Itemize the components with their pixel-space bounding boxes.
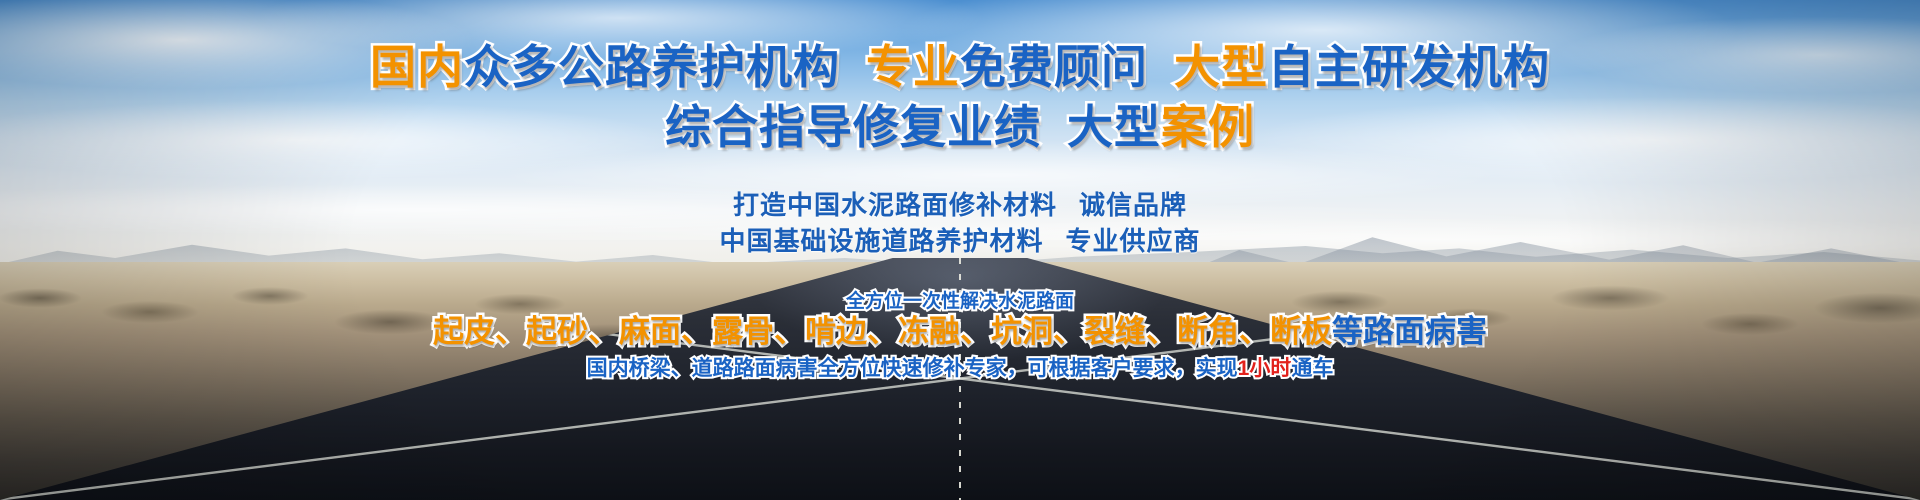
- subtitle2-part-b: 专业供应商: [1066, 226, 1201, 256]
- headline1-seg-4: 免费顾问: [960, 41, 1148, 93]
- headline2-seg-1: 综合指导修复业绩: [665, 101, 1041, 153]
- subtitle2-part-a: 中国基础设施道路养护材料: [719, 226, 1043, 256]
- footer-text-b: 通车: [1291, 357, 1333, 380]
- footer-line: 国内桥梁、道路路面病害全方位快速修补专家，可根据客户要求，实现1小时通车: [0, 358, 1920, 379]
- disease-list-line: 起皮、起砂、麻面、露骨、啃边、冻融、坑洞、裂缝、断角、断板等路面病害: [0, 316, 1920, 347]
- headline1-seg-1: 国内: [370, 41, 464, 93]
- promo-banner: 国内众多公路养护机构专业免费顾问大型自主研发机构 综合指导修复业绩大型案例 打造…: [0, 0, 1920, 500]
- headline-line-1: 国内众多公路养护机构专业免费顾问大型自主研发机构: [0, 44, 1920, 90]
- headline2-seg-3: 案例: [1161, 101, 1255, 153]
- subtitle-line-2: 中国基础设施道路养护材料专业供应商: [0, 228, 1920, 254]
- footer-text-a: 国内桥梁、道路路面病害全方位快速修补专家，可根据客户要求，实现: [587, 357, 1238, 380]
- headline1-seg-2: 众多公路养护机构: [464, 41, 840, 93]
- subtitle1-part-a: 打造中国水泥路面修补材料: [733, 190, 1057, 220]
- headline1-seg-6: 自主研发机构: [1268, 41, 1550, 93]
- tagline-text: 全方位一次性解决水泥路面: [0, 292, 1920, 311]
- headline1-seg-5: 大型: [1174, 41, 1268, 93]
- banner-text-layer: 国内众多公路养护机构专业免费顾问大型自主研发机构 综合指导修复业绩大型案例 打造…: [0, 0, 1920, 500]
- headline2-seg-2: 大型: [1067, 101, 1161, 153]
- disease-list-suffix: 等路面病害: [1332, 314, 1487, 349]
- headline-line-2: 综合指导修复业绩大型案例: [0, 104, 1920, 150]
- subtitle1-part-b: 诚信品牌: [1079, 190, 1187, 220]
- headline1-seg-3: 专业: [866, 41, 960, 93]
- disease-list: 起皮、起砂、麻面、露骨、啃边、冻融、坑洞、裂缝、断角、断板: [433, 314, 1332, 349]
- subtitle-line-1: 打造中国水泥路面修补材料诚信品牌: [0, 192, 1920, 218]
- footer-highlight: 1小时: [1238, 357, 1292, 380]
